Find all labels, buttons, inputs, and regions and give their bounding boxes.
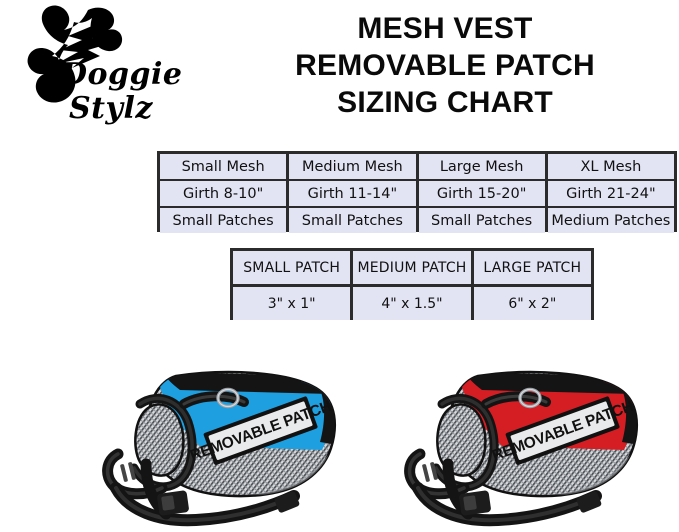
table-cell: LARGE PATCH: [474, 251, 591, 284]
table-cell: Girth 15-20": [419, 181, 545, 206]
sizing-chart-page: Doggie Stylz MESH VEST REMOVABLE PATCH S…: [0, 0, 679, 532]
table-cell: Small Mesh: [160, 154, 286, 179]
patch-sizing-table: SMALL PATCH MEDIUM PATCH LARGE PATCH 3" …: [230, 248, 594, 320]
title-line-1: MESH VEST: [215, 10, 675, 47]
table-cell: Girth 8-10": [160, 181, 286, 206]
table-cell: Medium Mesh: [289, 154, 415, 179]
table-cell: Small Patches: [419, 208, 545, 233]
table-row: SMALL PATCH MEDIUM PATCH LARGE PATCH: [233, 251, 591, 284]
table-cell: Small Patches: [289, 208, 415, 233]
buckle-icon: [459, 490, 492, 516]
table-cell: Medium Patches: [548, 208, 674, 233]
table-cell: Girth 11-14": [289, 181, 415, 206]
table-row: 3" x 1" 4" x 1.5" 6" x 2": [233, 287, 591, 320]
table-cell: Large Mesh: [419, 154, 545, 179]
table-cell: Girth 21-24": [548, 181, 674, 206]
table-cell: Small Patches: [160, 208, 286, 233]
table-cell: MEDIUM PATCH: [353, 251, 470, 284]
table-row: Small Mesh Medium Mesh Large Mesh XL Mes…: [160, 154, 674, 179]
table-cell: 6" x 2": [474, 287, 591, 320]
buckle-icon: [157, 490, 190, 516]
product-photo-red-mesh-vest: REMOVABLE PATCH: [390, 368, 655, 528]
table-cell: XL Mesh: [548, 154, 674, 179]
product-photo-blue-mesh-vest: REMOVABLE PATCH: [88, 368, 353, 528]
table-cell: SMALL PATCH: [233, 251, 350, 284]
title-line-3: SIZING CHART: [215, 84, 675, 121]
mesh-sizing-table: Small Mesh Medium Mesh Large Mesh XL Mes…: [157, 151, 677, 232]
brand-logo: Doggie Stylz: [4, 4, 209, 134]
table-row: Small Patches Small Patches Small Patche…: [160, 208, 674, 233]
table-cell: 3" x 1": [233, 287, 350, 320]
table-row: Girth 8-10" Girth 11-14" Girth 15-20" Gi…: [160, 181, 674, 206]
table-cell: 4" x 1.5": [353, 287, 470, 320]
title-line-2: REMOVABLE PATCH: [215, 47, 675, 84]
page-title: MESH VEST REMOVABLE PATCH SIZING CHART: [215, 10, 675, 121]
tribal-bone-logo-icon: [4, 4, 179, 122]
